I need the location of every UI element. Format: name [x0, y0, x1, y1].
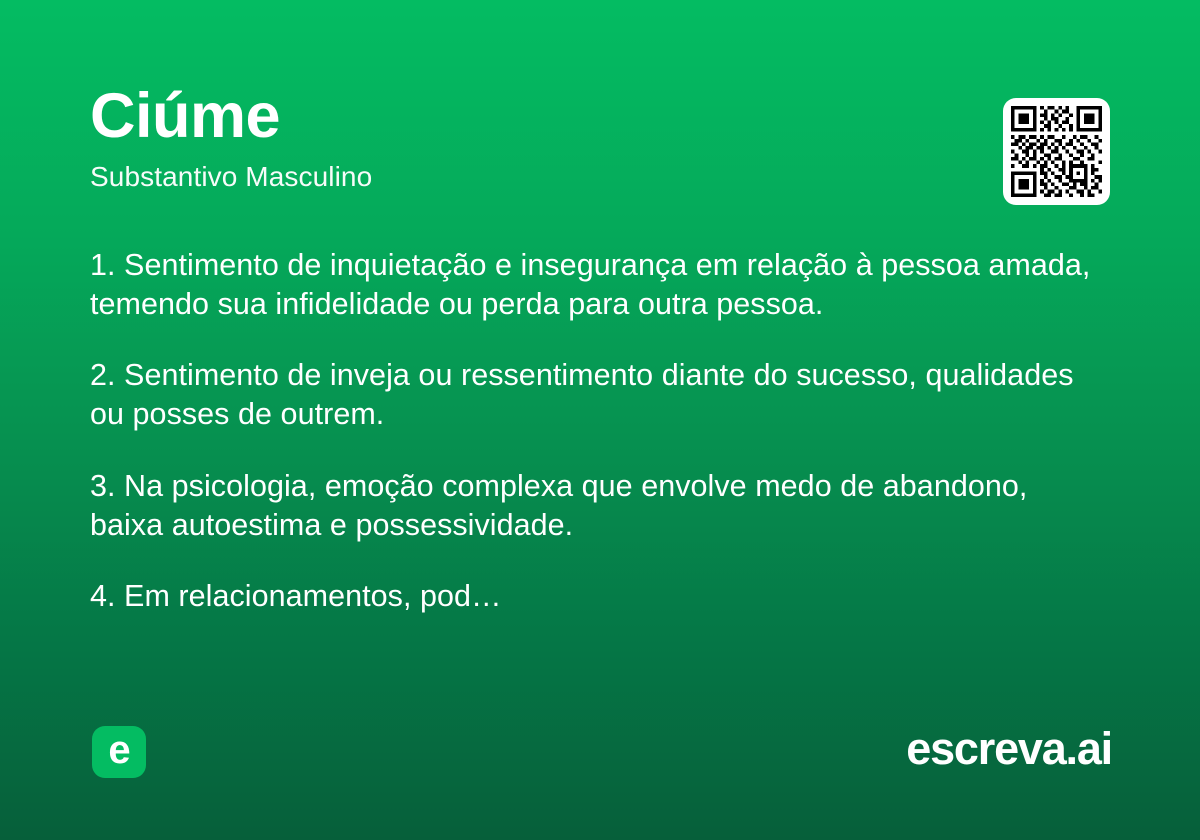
page-title: Ciúme — [90, 82, 950, 150]
brand-logo-icon: e — [92, 726, 146, 778]
definition-item: 1. Sentimento de inquietação e inseguran… — [90, 246, 1100, 323]
definition-list: 1. Sentimento de inquietação e inseguran… — [90, 246, 1100, 616]
part-of-speech-label: Substantivo Masculino — [90, 160, 950, 194]
qr-code-icon — [1011, 106, 1102, 197]
brand-logo-letter: e — [108, 730, 129, 770]
qr-code-panel[interactable] — [1003, 98, 1110, 205]
definition-item: 2. Sentimento de inveja ou ressentimento… — [90, 356, 1100, 433]
definition-item: 3. Na psicologia, emoção complexa que en… — [90, 467, 1100, 544]
card-header: Ciúme Substantivo Masculino — [90, 82, 950, 194]
brand-wordmark: escreva.ai — [906, 722, 1112, 776]
dictionary-card: Ciúme Substantivo Masculino — [0, 0, 1200, 840]
definition-item: 4. Em relacionamentos, pod… — [90, 577, 1100, 616]
